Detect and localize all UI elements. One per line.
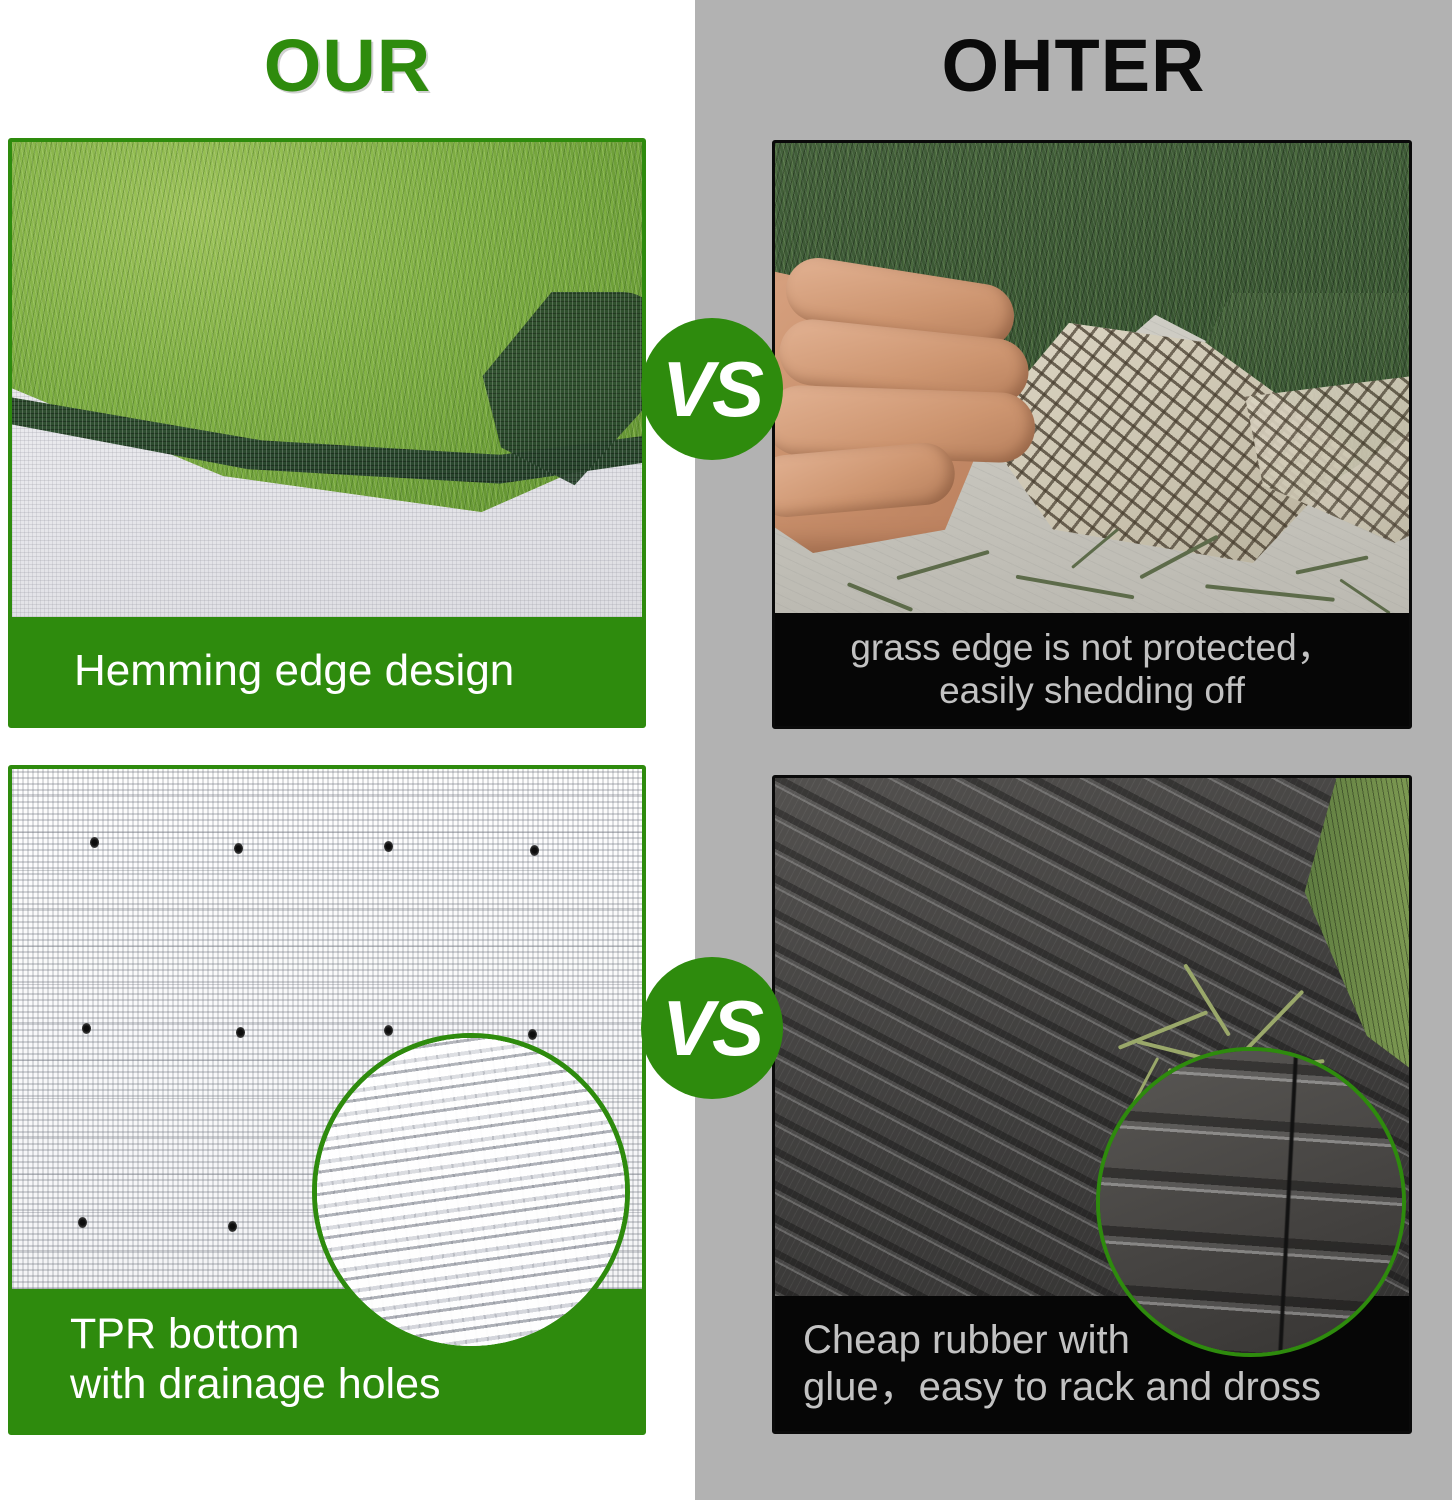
drainage-hole <box>234 843 243 854</box>
caption-line-2: glue，easy to rack and dross <box>803 1364 1409 1410</box>
rubber-zoom-texture <box>1096 1047 1406 1357</box>
drainage-hole <box>78 1217 87 1228</box>
tpr-weave-texture <box>312 1033 630 1351</box>
drainage-hole <box>236 1027 245 1038</box>
grass-blade <box>1183 963 1231 1036</box>
comparison-infographic: OUR OHTER Hemming edge design <box>0 0 1452 1500</box>
drainage-hole <box>90 837 99 848</box>
card-top-right: grass edge is not protected， easily shed… <box>772 140 1412 729</box>
vs-badge-top: VS <box>641 318 783 460</box>
drainage-hole <box>530 845 539 856</box>
drainage-hole <box>82 1023 91 1034</box>
caption-line-1: grass edge is not protected， <box>850 627 1333 670</box>
photo-hemming-edge <box>12 142 642 617</box>
drainage-hole <box>384 841 393 852</box>
caption-line-2: easily shedding off <box>939 670 1245 713</box>
vs-badge-bottom-label: VS <box>662 983 762 1074</box>
drainage-hole <box>228 1221 237 1232</box>
photo-unprotected-edge <box>775 143 1409 613</box>
caption-line-1: Hemming edge design <box>74 645 642 696</box>
vs-badge-top-label: VS <box>662 344 762 435</box>
inset-rubber-crack-zoom <box>1096 1047 1406 1357</box>
caption-top-right: grass edge is not protected， easily shed… <box>775 613 1409 726</box>
header-other: OHTER <box>695 0 1452 130</box>
header-our: OUR <box>0 0 695 130</box>
inset-tpr-weave-zoom <box>312 1033 630 1351</box>
drainage-hole <box>384 1025 393 1036</box>
grass-blade <box>1118 1010 1209 1050</box>
vs-badge-bottom: VS <box>641 957 783 1099</box>
card-top-left: Hemming edge design <box>8 138 646 728</box>
caption-line-2: with drainage holes <box>70 1360 642 1410</box>
caption-top-left: Hemming edge design <box>12 617 642 724</box>
